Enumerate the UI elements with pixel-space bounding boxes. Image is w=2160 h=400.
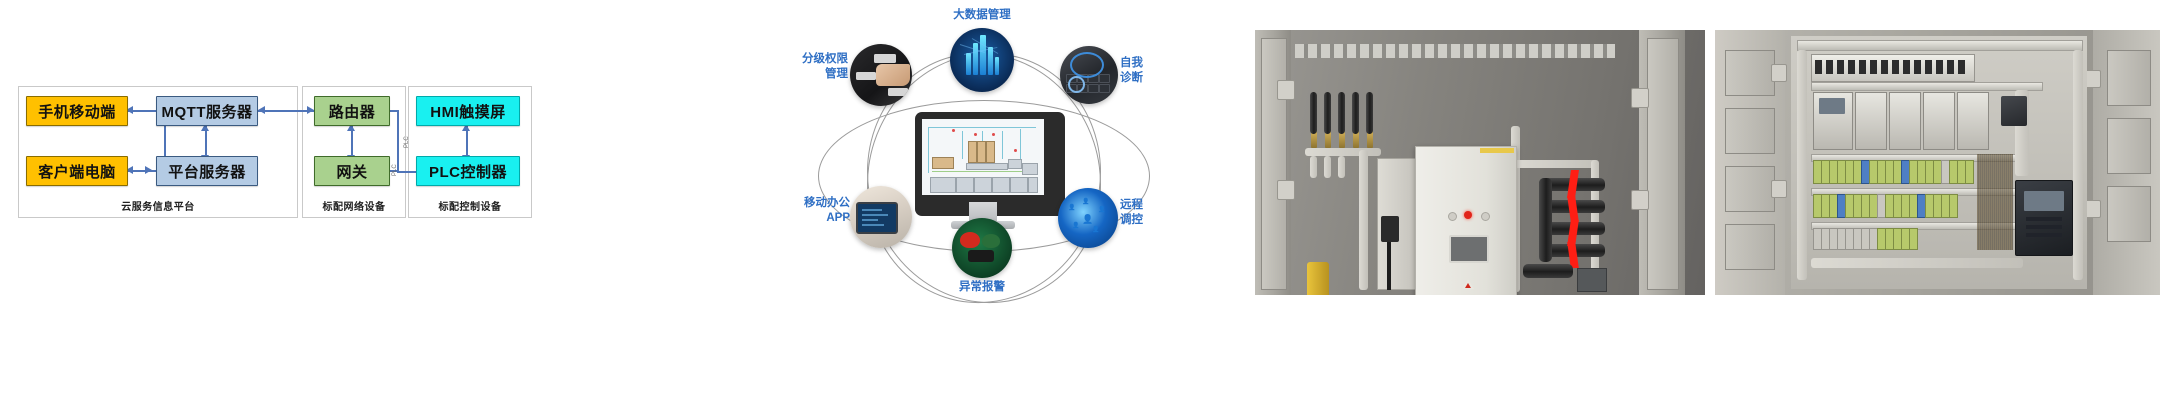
node-router[interactable]: 路由器 bbox=[314, 96, 390, 126]
access-level-icon bbox=[850, 44, 912, 106]
arrow-platform-in bbox=[145, 166, 152, 174]
capability-infographic: 大数据管理 自我 诊断 👤 👤 👤 👤 bbox=[760, 0, 1260, 400]
equipment-photos bbox=[1255, 0, 2160, 400]
group-network-devices-label: 标配网络设备 bbox=[303, 198, 405, 213]
photo-cabinet-outdoor bbox=[1255, 30, 1705, 295]
bubble-remote-control-label: 远程 调控 bbox=[1120, 198, 1166, 227]
node-client-pc[interactable]: 客户端电脑 bbox=[26, 156, 128, 186]
bubble-big-data[interactable] bbox=[950, 28, 1014, 92]
remote-network-icon: 👤 👤 👤 👤 👤 👤 bbox=[1058, 188, 1118, 248]
node-mqtt-server-label: MQTT服务器 bbox=[162, 101, 253, 122]
node-plc-controller-label: PLC控制器 bbox=[429, 161, 507, 182]
bubble-permission-label: 分级权限 管理 bbox=[774, 52, 848, 81]
connector-mqtt-router bbox=[258, 110, 314, 112]
control-enclosure bbox=[1415, 146, 1517, 295]
screenshot-root: 云服务信息平台 标配网络设备 标配控制设备 bbox=[0, 0, 2160, 400]
node-mobile-client[interactable]: 手机移动端 bbox=[26, 96, 128, 126]
vfd-drive bbox=[2015, 180, 2073, 256]
bubble-permission[interactable] bbox=[850, 44, 912, 106]
node-platform-server-label: 平台服务器 bbox=[168, 161, 246, 182]
node-router-label: 路由器 bbox=[329, 101, 376, 122]
node-mobile-client-label: 手机移动端 bbox=[38, 101, 116, 122]
node-mqtt-server[interactable]: MQTT服务器 bbox=[156, 96, 258, 126]
system-architecture-diagram: 云服务信息平台 标配网络设备 标配控制设备 bbox=[0, 0, 745, 400]
photo-cabinet-interior bbox=[1715, 30, 2160, 295]
arrow-mqtt-in bbox=[258, 106, 265, 114]
node-hmi-panel-label: HMI触摸屏 bbox=[430, 101, 506, 122]
wire-label-plc-2: PLC bbox=[392, 164, 398, 176]
bubble-alarm[interactable] bbox=[952, 218, 1012, 278]
tablet-hand-icon bbox=[850, 186, 912, 248]
group-cloud-platform-label: 云服务信息平台 bbox=[19, 198, 297, 213]
stethoscope-keyboard-icon bbox=[1060, 46, 1118, 104]
bubble-remote-control[interactable]: 👤 👤 👤 👤 👤 👤 bbox=[1058, 188, 1118, 248]
connector-plc-bus-a bbox=[397, 110, 399, 172]
bubble-mobile-app[interactable] bbox=[850, 186, 912, 248]
bar-chart-network-icon bbox=[950, 28, 1014, 92]
alarm-beacon-icon bbox=[952, 218, 1012, 278]
node-plc-controller[interactable]: PLC控制器 bbox=[416, 156, 520, 186]
node-platform-server[interactable]: 平台服务器 bbox=[156, 156, 258, 186]
wire-label-plc-1: PLC bbox=[404, 136, 410, 148]
node-gateway-label: 网关 bbox=[336, 161, 367, 182]
bubble-self-diagnosis-label: 自我 诊断 bbox=[1120, 56, 1166, 85]
node-gateway[interactable]: 网关 bbox=[314, 156, 390, 186]
bubble-alarm-label: 异常报警 bbox=[932, 280, 1032, 295]
node-client-pc-label: 客户端电脑 bbox=[38, 161, 116, 182]
node-hmi-panel[interactable]: HMI触摸屏 bbox=[416, 96, 520, 126]
arrow-router-in bbox=[307, 106, 314, 114]
bubble-mobile-app-label: 移动办公 APP bbox=[784, 196, 850, 225]
bubble-big-data-label: 大数据管理 bbox=[932, 8, 1032, 23]
bubble-self-diagnosis[interactable] bbox=[1060, 46, 1118, 104]
group-control-devices-label: 标配控制设备 bbox=[409, 198, 531, 213]
